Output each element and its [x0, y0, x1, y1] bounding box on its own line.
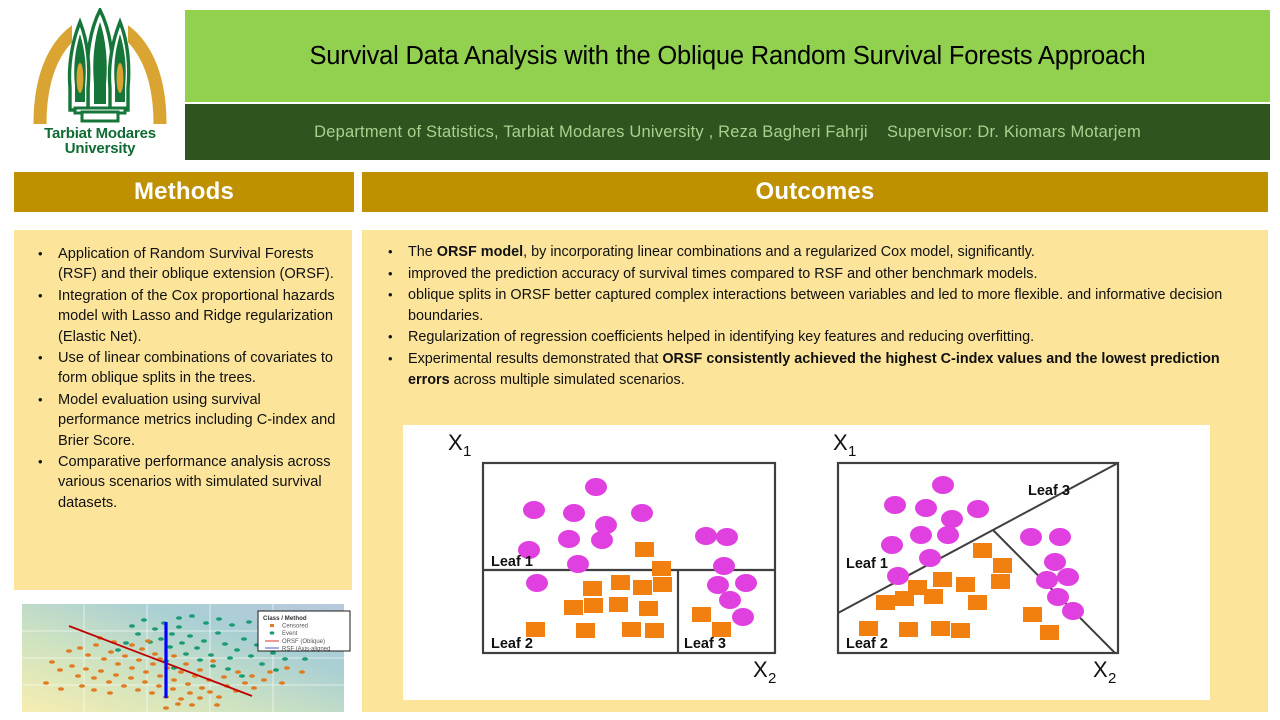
svg-text:Leaf 2: Leaf 2: [846, 636, 888, 652]
svg-text:Leaf 3: Leaf 3: [684, 636, 726, 652]
logo-mark-icon: [20, 8, 180, 128]
scatter-plot-figure: Class / Method Censored Event ORSF (Obli…: [14, 598, 352, 720]
logo-text: Tarbiat Modares University: [20, 126, 180, 156]
svg-text:X: X: [753, 657, 768, 682]
outcomes-bullet: Regularization of regression coefficient…: [378, 327, 1248, 348]
svg-text:RSF (Axis-aligned: RSF (Axis-aligned: [282, 646, 330, 652]
svg-text:Event: Event: [282, 631, 298, 637]
svg-text:Class / Method: Class / Method: [263, 615, 307, 622]
section-header-methods-label: Methods: [134, 178, 234, 206]
university-logo: Tarbiat Modares University: [20, 8, 180, 166]
poster-subtitle-bar: Department of Statistics, Tarbiat Modare…: [185, 104, 1270, 160]
scatter-plot-svg: Class / Method Censored Event ORSF (Obli…: [14, 598, 352, 720]
tree-splits-svg: X 1: [403, 425, 1210, 700]
svg-text:X: X: [833, 430, 848, 455]
outcomes-bullet: improved the prediction accuracy of surv…: [378, 264, 1248, 285]
poster-title-bar: Survival Data Analysis with the Oblique …: [185, 10, 1270, 102]
section-header-methods: Methods: [14, 172, 354, 212]
outcomes-bullet: oblique splits in ORSF better captured c…: [378, 285, 1248, 326]
outcomes-bullet-emphasis: ORSF consistently achieved the highest C…: [408, 351, 1220, 388]
methods-bullet: Application of Random Survival Forests (…: [28, 244, 344, 285]
methods-bullet-list: Application of Random Survival Forests (…: [28, 244, 344, 514]
outcomes-bullet: Experimental results demonstrated that O…: [378, 349, 1248, 390]
section-header-outcomes-label: Outcomes: [756, 178, 875, 206]
svg-text:ORSF (Oblique): ORSF (Oblique): [282, 639, 325, 645]
affiliation-text: Department of Statistics, Tarbiat Modare…: [314, 123, 1141, 142]
methods-bullet: Use of linear combinations of covariates…: [28, 348, 344, 389]
logo-line-2: University: [20, 141, 180, 156]
poster-root: Tarbiat Modares University Survival Data…: [0, 0, 1280, 720]
svg-text:1: 1: [463, 443, 471, 460]
svg-text:Leaf 1: Leaf 1: [491, 554, 533, 570]
svg-text:X: X: [1093, 657, 1108, 682]
outcomes-panel: The ORSF model, by incorporating linear …: [362, 230, 1268, 712]
methods-bullet: Integration of the Cox proportional haza…: [28, 286, 344, 347]
tree-splits-figure: X 1: [403, 425, 1210, 700]
svg-text:X: X: [448, 430, 463, 455]
section-header-outcomes: Outcomes: [362, 172, 1268, 212]
svg-text:1: 1: [848, 443, 856, 460]
svg-text:Leaf 1: Leaf 1: [846, 556, 888, 572]
svg-text:Censored: Censored: [282, 624, 308, 630]
outcomes-bullet-list: The ORSF model, by incorporating linear …: [378, 242, 1248, 391]
page-title: Survival Data Analysis with the Oblique …: [299, 42, 1155, 71]
svg-text:Leaf 2: Leaf 2: [491, 636, 533, 652]
methods-bullet: Model evaluation using survival performa…: [28, 390, 344, 451]
svg-text:2: 2: [768, 670, 776, 687]
svg-text:2: 2: [1108, 670, 1116, 687]
svg-text:Leaf 3: Leaf 3: [1028, 483, 1070, 499]
outcomes-bullet-emphasis: ORSF model: [437, 244, 523, 260]
methods-panel: Application of Random Survival Forests (…: [14, 230, 352, 590]
outcomes-bullet: The ORSF model, by incorporating linear …: [378, 242, 1248, 263]
methods-bullet: Comparative performance analysis across …: [28, 452, 344, 513]
